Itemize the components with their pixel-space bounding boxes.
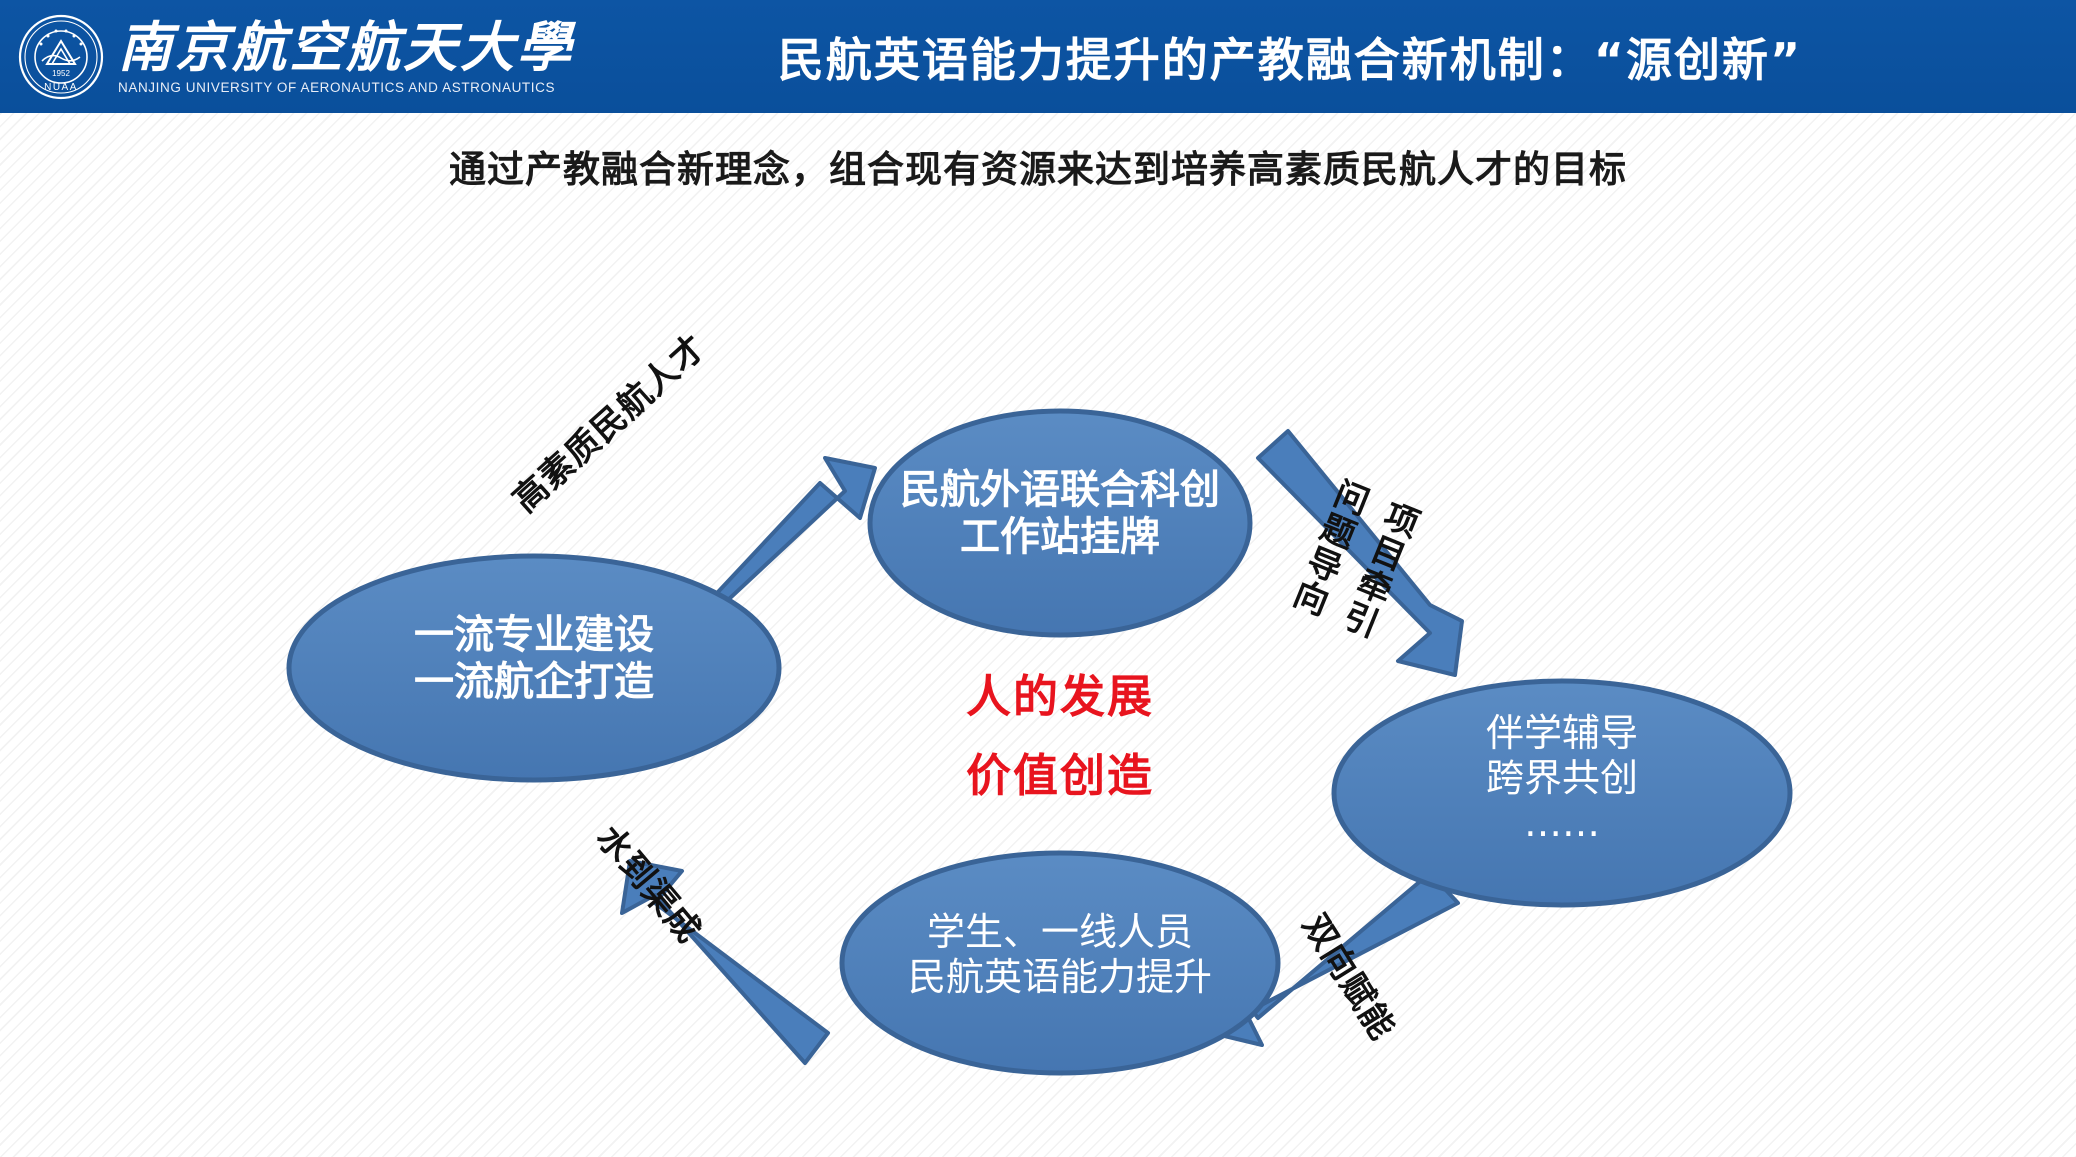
node-ellipse-bottom (842, 853, 1278, 1073)
university-logo: 1952 NUAA 南京航空航天大學 NANJING UNIVERSITY OF… (18, 8, 518, 106)
svg-text:NUAA: NUAA (44, 82, 78, 93)
university-name-block: 南京航空航天大學 NANJING UNIVERSITY OF AERONAUTI… (118, 20, 574, 95)
slide: 1952 NUAA 南京航空航天大學 NANJING UNIVERSITY OF… (0, 0, 2076, 1157)
university-name-en: NANJING UNIVERSITY OF AERONAUTICS AND AS… (118, 81, 574, 95)
slide-body: 通过产教融合新理念，组合现有资源来达到培养高素质民航人才的目标 (0, 113, 2076, 1157)
slide-title: 民航英语能力提升的产教融合新机制：“源创新” (530, 0, 2050, 113)
university-name-cn: 南京航空航天大學 (118, 20, 574, 74)
node-ellipse-left (289, 556, 779, 780)
svg-text:1952: 1952 (52, 69, 70, 78)
university-seal-icon: 1952 NUAA (18, 14, 104, 100)
slide-header: 1952 NUAA 南京航空航天大學 NANJING UNIVERSITY OF… (0, 0, 2076, 113)
node-ellipse-right (1334, 681, 1790, 905)
center-label: 人的发展 价值创造 (860, 658, 1260, 816)
diagram-shapes (0, 113, 2076, 1157)
cycle-diagram: 民航外语联合科创 工作站挂牌 伴学辅导 跨界共创 …… 学生、一线人员 民航英语… (0, 113, 2076, 1157)
node-ellipse-top (870, 411, 1250, 635)
